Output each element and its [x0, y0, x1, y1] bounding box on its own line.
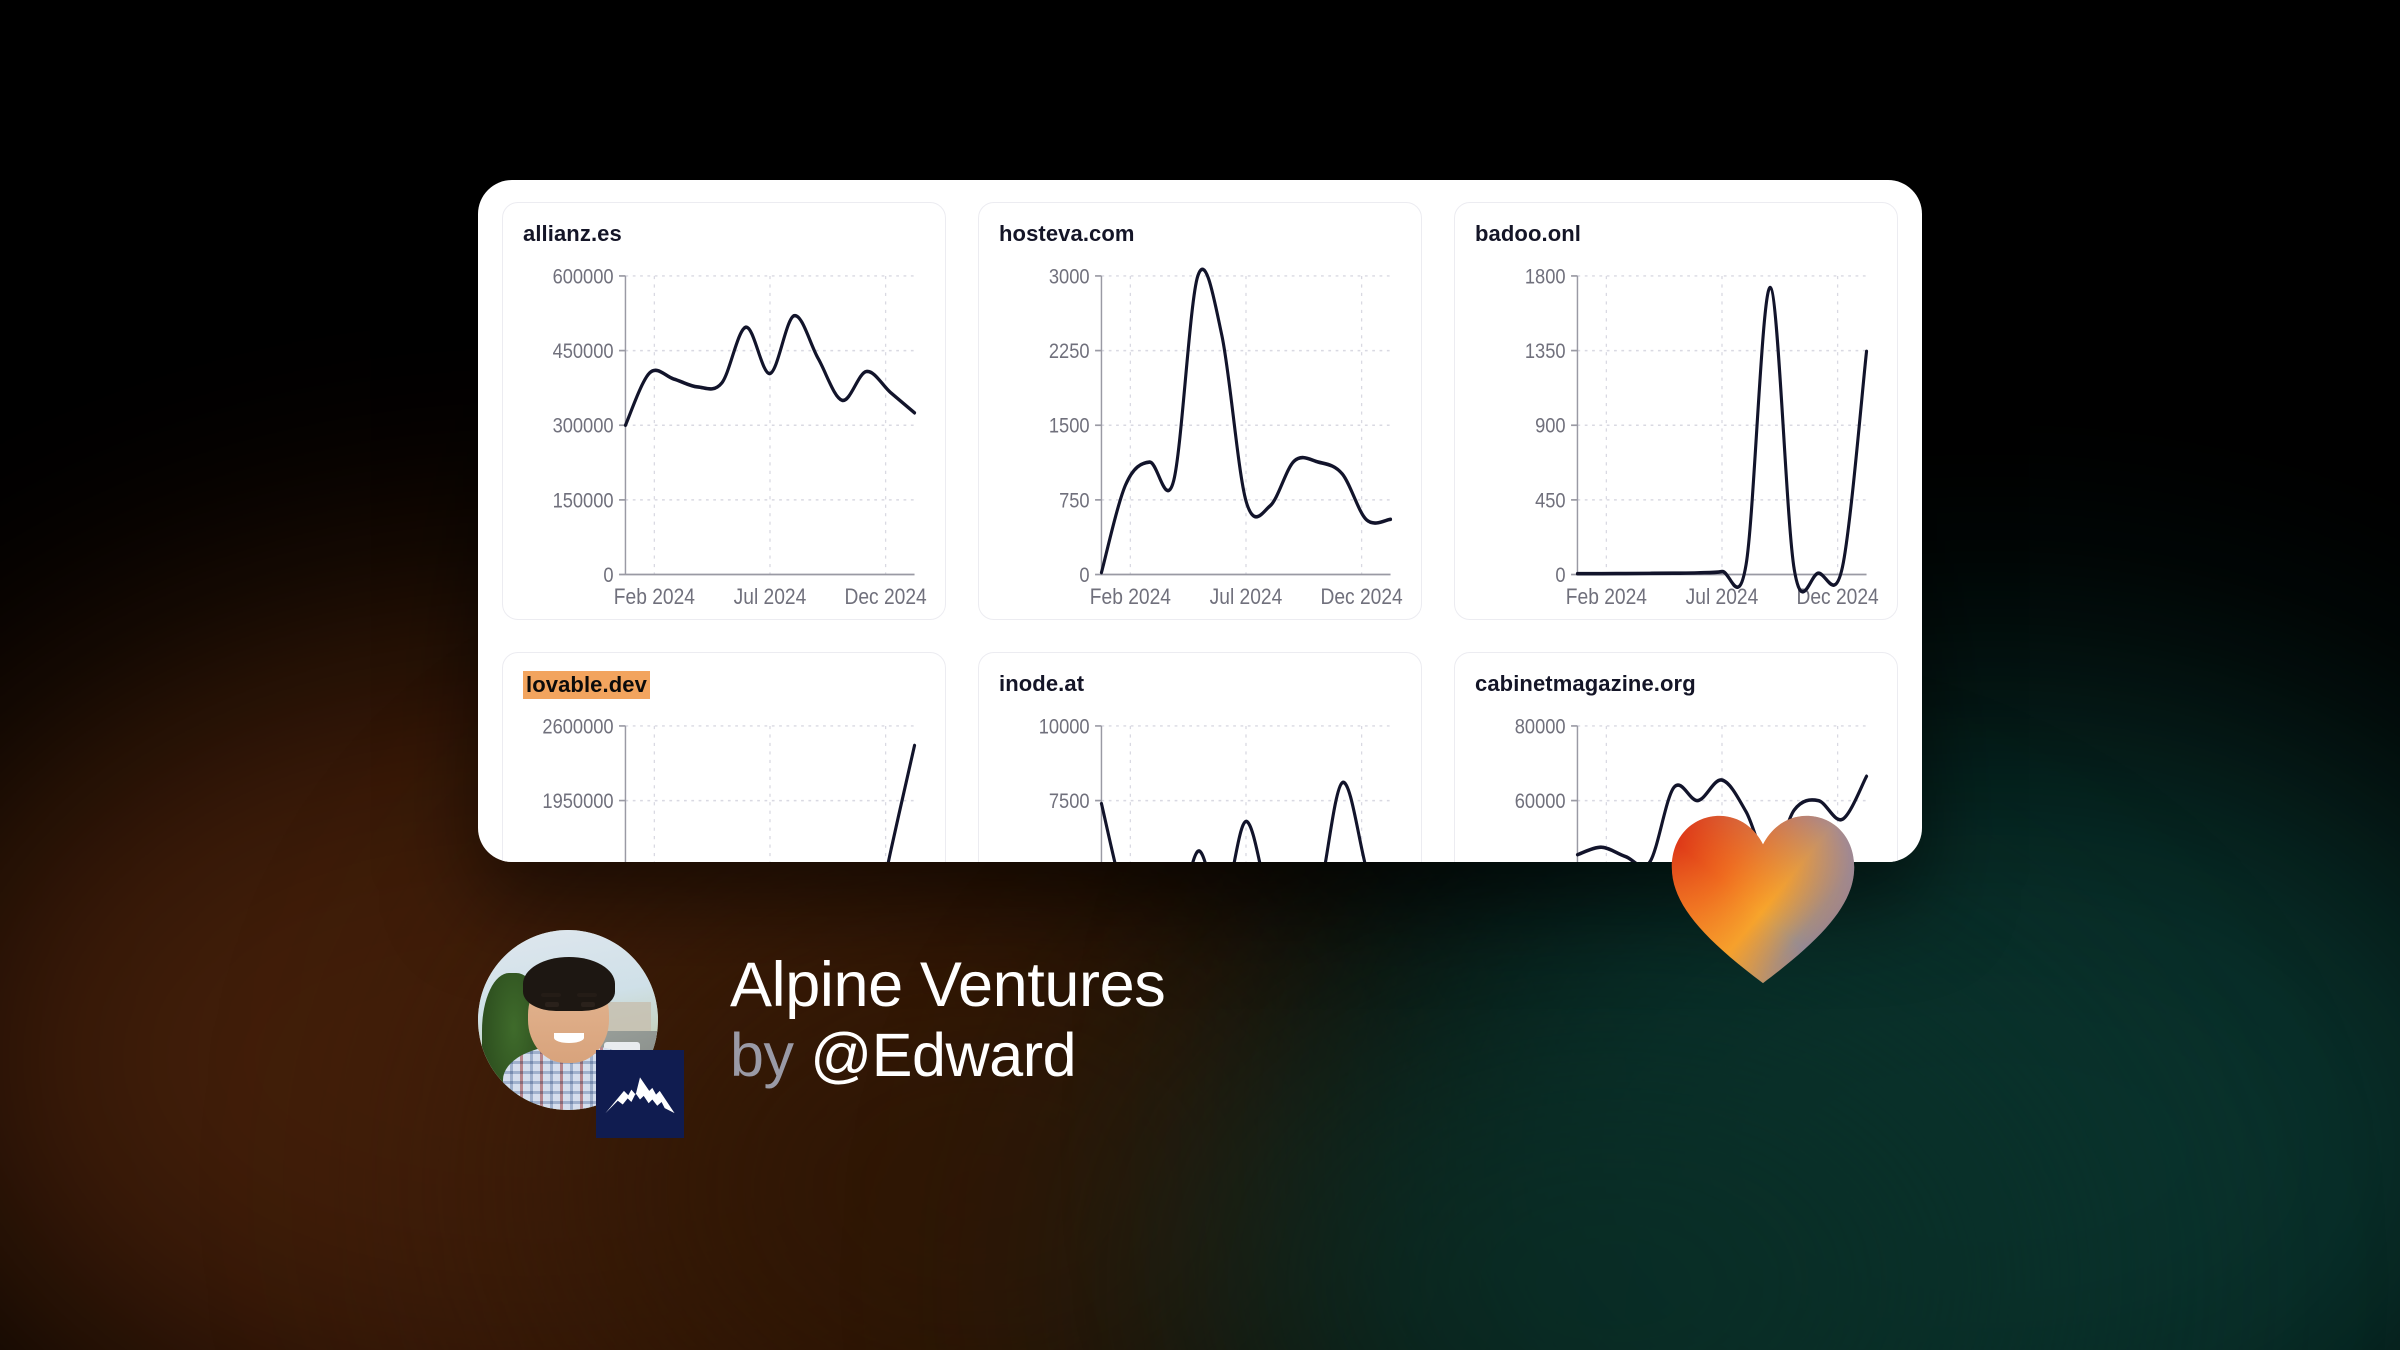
chart-plot: 25005000750010000	[999, 709, 1407, 862]
x-tick-label: Dec 2024	[1321, 585, 1403, 610]
y-tick-label: 2600000	[542, 715, 613, 739]
x-tick-label: Feb 2024	[1090, 585, 1171, 610]
y-tick-label: 600000	[553, 265, 614, 289]
chart-title: inode.at	[999, 671, 1084, 697]
byline: Alpine Ventures by @Edward	[478, 930, 1165, 1110]
chart-plot: 045090013501800Feb 2024Jul 2024Dec 2024	[1475, 259, 1883, 619]
handle-name: @Edward	[810, 1021, 1076, 1089]
y-tick-label: 7500	[1049, 790, 1090, 814]
heart-graphic	[1668, 812, 1858, 987]
chart-title: badoo.onl	[1475, 221, 1581, 247]
y-tick-label: 3000	[1049, 265, 1090, 289]
y-tick-label: 1350	[1525, 340, 1566, 364]
y-tick-label: 0	[603, 564, 613, 588]
chart-card[interactable]: lovable.dev650000130000019500002600000	[502, 652, 946, 862]
chart-grid: allianz.es0150000300000450000600000Feb 2…	[478, 180, 1922, 862]
avatar-wrapper	[478, 930, 658, 1110]
y-tick-label: 450000	[553, 340, 614, 364]
x-tick-label: Feb 2024	[614, 585, 695, 610]
chart-title: lovable.dev	[523, 671, 650, 699]
y-tick-label: 60000	[1515, 790, 1566, 814]
byline-text: Alpine Ventures by @Edward	[730, 952, 1165, 1087]
handle-line: by @Edward	[730, 1023, 1165, 1088]
chart-card[interactable]: hosteva.com0750150022503000Feb 2024Jul 2…	[978, 202, 1422, 620]
chart-card[interactable]: badoo.onl045090013501800Feb 2024Jul 2024…	[1454, 202, 1898, 620]
chart-title: cabinetmagazine.org	[1475, 671, 1696, 697]
y-tick-label: 300000	[553, 414, 614, 438]
chart-card[interactable]: allianz.es0150000300000450000600000Feb 2…	[502, 202, 946, 620]
y-tick-label: 80000	[1515, 715, 1566, 739]
chart-card[interactable]: inode.at25005000750010000	[978, 652, 1422, 862]
y-tick-label: 1800	[1525, 265, 1566, 289]
chart-title: hosteva.com	[999, 221, 1135, 247]
y-tick-label: 0	[1079, 564, 1089, 588]
y-tick-label: 450	[1535, 489, 1565, 513]
avatar-eye-left	[545, 1002, 559, 1007]
chart-plot: 650000130000019500002600000	[523, 709, 931, 862]
y-tick-label: 150000	[553, 489, 614, 513]
y-tick-label: 1950000	[542, 790, 613, 814]
x-tick-label: Dec 2024	[845, 585, 927, 610]
mountain-logo-badge	[596, 1050, 684, 1138]
handle-prefix: by	[730, 1021, 794, 1089]
y-tick-label: 900	[1535, 414, 1565, 438]
mountain-icon	[603, 1072, 677, 1116]
avatar-hair	[523, 957, 615, 1011]
chart-plot: 0750150022503000Feb 2024Jul 2024Dec 2024	[999, 259, 1407, 619]
chart-title: allianz.es	[523, 221, 622, 247]
avatar-eyebrow-right	[577, 993, 597, 997]
y-tick-label: 750	[1059, 489, 1089, 513]
y-tick-label: 1500	[1049, 414, 1090, 438]
y-tick-label: 2250	[1049, 340, 1090, 364]
chart-plot: 0150000300000450000600000Feb 2024Jul 202…	[523, 259, 931, 619]
org-name: Alpine Ventures	[730, 952, 1165, 1019]
x-tick-label: Feb 2024	[1566, 585, 1647, 610]
avatar-eye-right	[581, 1002, 595, 1007]
dashboard-card: allianz.es0150000300000450000600000Feb 2…	[478, 180, 1922, 862]
heart-icon	[1668, 812, 1858, 987]
avatar-eyebrow-left	[541, 993, 561, 997]
x-tick-label: Jul 2024	[1686, 585, 1759, 610]
y-tick-label: 10000	[1039, 715, 1090, 739]
x-tick-label: Jul 2024	[1210, 585, 1283, 610]
y-tick-label: 0	[1555, 564, 1565, 588]
x-tick-label: Jul 2024	[734, 585, 807, 610]
